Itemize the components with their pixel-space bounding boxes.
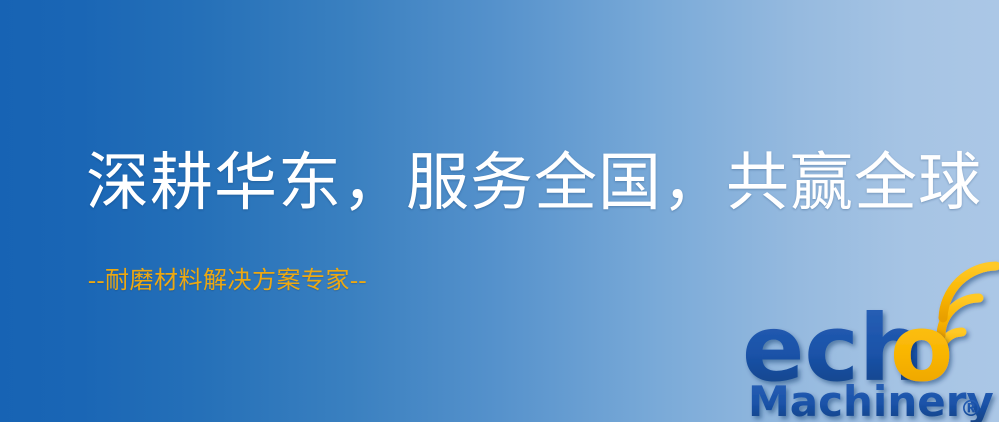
banner-subtitle: --耐磨材料解决方案专家-- (88, 269, 367, 293)
promo-banner: 深耕华东，服务全国，共赢全球 --耐磨材料解决方案专家-- (0, 0, 999, 422)
logo-tagline-group: Machinery ® (748, 377, 994, 422)
logo-registered-mark: ® (960, 397, 982, 422)
echo-machinery-logo[interactable]: ech o Machinery ® (742, 292, 999, 422)
page-title: 深耕华东，服务全国，共赢全球 (86, 152, 982, 215)
logo-tagline-text: Machinery (748, 377, 994, 422)
